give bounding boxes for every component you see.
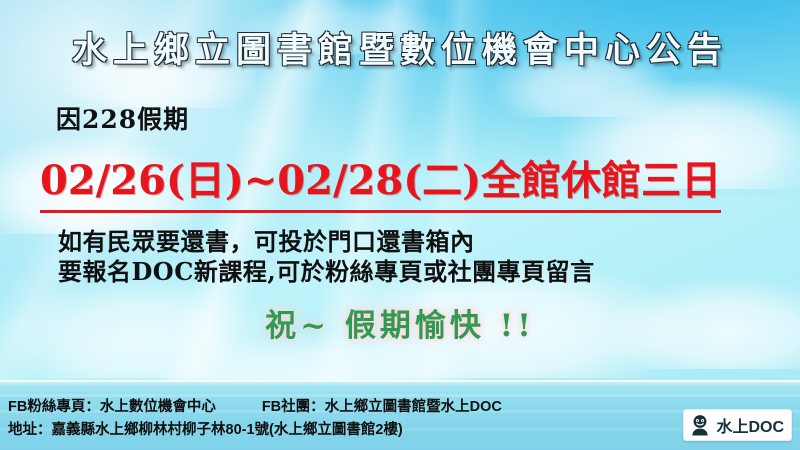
fb-group-label: FB社團：水上鄉立圖書館暨水上DOC	[262, 396, 502, 419]
footer: FB粉絲專頁：水上數位機會中心 FB社團：水上鄉立圖書館暨水上DOC 地址：嘉義…	[8, 396, 502, 442]
doc-logo-badge: 水上DOC	[683, 409, 792, 441]
reason-text: 因228假期	[56, 100, 189, 136]
announcement-poster: 水上鄉立圖書館暨數位機會中心公告 因228假期 02/26(日)~02/28(二…	[0, 0, 800, 450]
doc-logo-text: 水上DOC	[716, 413, 784, 437]
doc-person-icon	[689, 414, 711, 436]
address-label: 地址：嘉義縣水上鄉柳林村柳子林80-1號(水上鄉立圖書館2樓)	[8, 419, 403, 442]
greeting-text: 祝~ 假期愉快 !!	[0, 300, 800, 345]
poster-title: 水上鄉立圖書館暨數位機會中心公告	[0, 22, 800, 73]
footer-row-social: FB粉絲專頁：水上數位機會中心 FB社團：水上鄉立圖書館暨水上DOC	[8, 396, 502, 419]
poster-content: 水上鄉立圖書館暨數位機會中心公告 因228假期 02/26(日)~02/28(二…	[0, 0, 800, 450]
footer-row-address: 地址：嘉義縣水上鄉柳林村柳子林80-1號(水上鄉立圖書館2樓)	[8, 419, 502, 442]
fb-fanpage-label: FB粉絲專頁：水上數位機會中心	[8, 396, 216, 419]
body-line-course-signup: 要報名DOC新課程,可於粉絲專頁或社團專頁留言	[58, 252, 595, 287]
closure-headline: 02/26(日)~02/28(二)全館休館三日	[40, 148, 721, 213]
